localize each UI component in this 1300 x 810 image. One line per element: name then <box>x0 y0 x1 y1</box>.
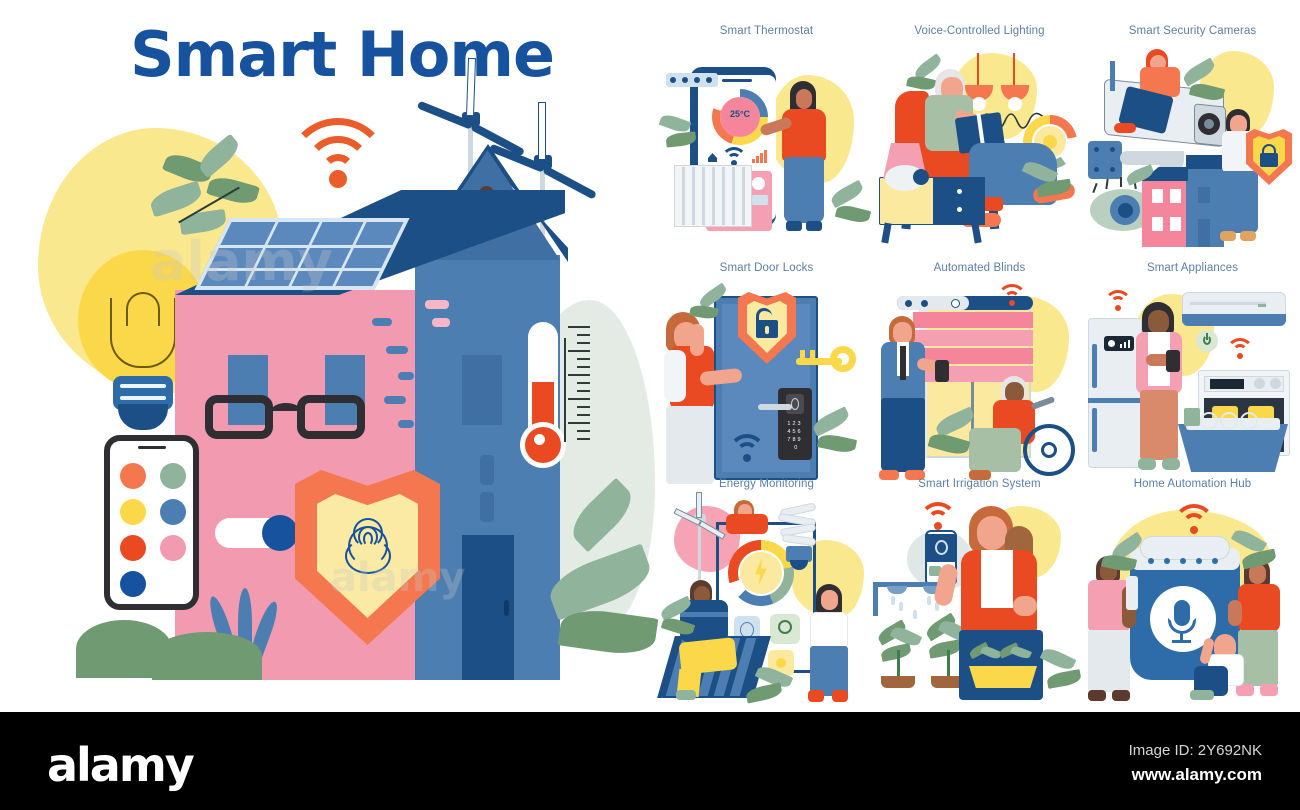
illustration-canvas: Smart Home <box>0 0 1300 712</box>
card-art <box>873 284 1086 494</box>
card-smart-irrigation-system[interactable]: Smart Irrigation System <box>873 478 1086 712</box>
card-energy-monitoring[interactable]: Energy Monitoring <box>660 478 873 712</box>
leaf-decor <box>558 606 659 659</box>
eyeglasses-icon <box>205 395 370 443</box>
wifi-icon <box>283 118 393 198</box>
wifi-icon <box>1226 338 1254 358</box>
card-art <box>1086 284 1299 494</box>
card-smart-door-locks[interactable]: Smart Door Locks 123456789 0 <box>660 262 873 499</box>
card-smart-appliances[interactable]: Smart Appliances <box>1086 262 1299 499</box>
card-label: Smart Door Locks <box>660 262 873 274</box>
card-label: Smart Appliances <box>1086 262 1299 274</box>
image-id-text: Image ID: 2Y692NK <box>1129 742 1262 759</box>
card-art <box>873 47 1086 257</box>
card-label: Voice-Controlled Lighting <box>873 25 1086 37</box>
watermark-bar <box>0 712 1300 810</box>
wifi-icon <box>997 284 1027 304</box>
card-art <box>873 500 1086 710</box>
alamy-logo: alamy <box>47 738 193 792</box>
card-label: Smart Irrigation System <box>873 478 1086 490</box>
card-art <box>660 500 873 710</box>
feature-grid: Smart Thermostat 25°C <box>660 0 1300 712</box>
card-home-automation-hub[interactable]: Home Automation Hub <box>1086 478 1299 712</box>
window <box>462 355 502 425</box>
card-label: Automated Blinds <box>873 262 1086 274</box>
card-label: Home Automation Hub <box>1086 478 1299 490</box>
keypad-digits[interactable]: 123456789 0 <box>780 420 810 452</box>
card-automated-blinds[interactable]: Automated Blinds <box>873 262 1086 499</box>
wifi-icon <box>919 502 957 528</box>
alamy-url[interactable]: www.alamy.com <box>1132 765 1262 785</box>
solar-panel-icon <box>194 218 409 290</box>
hero-illustration: Smart Home <box>0 0 660 712</box>
card-label: Smart Thermostat <box>660 25 873 37</box>
page-title: Smart Home <box>130 18 554 91</box>
wifi-icon <box>1104 290 1132 310</box>
card-smart-security-cameras[interactable]: Smart Security Cameras <box>1086 25 1299 262</box>
thermostat-temperature: 25°C <box>720 109 760 119</box>
card-voice-controlled-lighting[interactable]: Voice-Controlled Lighting <box>873 25 1086 262</box>
card-label: Smart Security Cameras <box>1086 25 1299 37</box>
bush-decor <box>152 632 262 680</box>
card-label: Energy Monitoring <box>660 478 873 490</box>
shield-fingerprint-icon <box>295 470 440 645</box>
thermometer-icon <box>520 322 580 482</box>
wifi-icon <box>720 147 748 165</box>
card-smart-thermostat[interactable]: Smart Thermostat 25°C <box>660 25 873 262</box>
card-art <box>1086 500 1299 710</box>
wifi-icon <box>728 434 766 462</box>
smartphone-color-palette[interactable] <box>104 435 199 610</box>
card-art: 123456789 0 <box>660 284 873 494</box>
wifi-icon <box>1174 504 1214 532</box>
card-art <box>1086 47 1299 257</box>
toggle-knob[interactable] <box>262 515 298 551</box>
card-art: 25°C <box>660 47 873 257</box>
